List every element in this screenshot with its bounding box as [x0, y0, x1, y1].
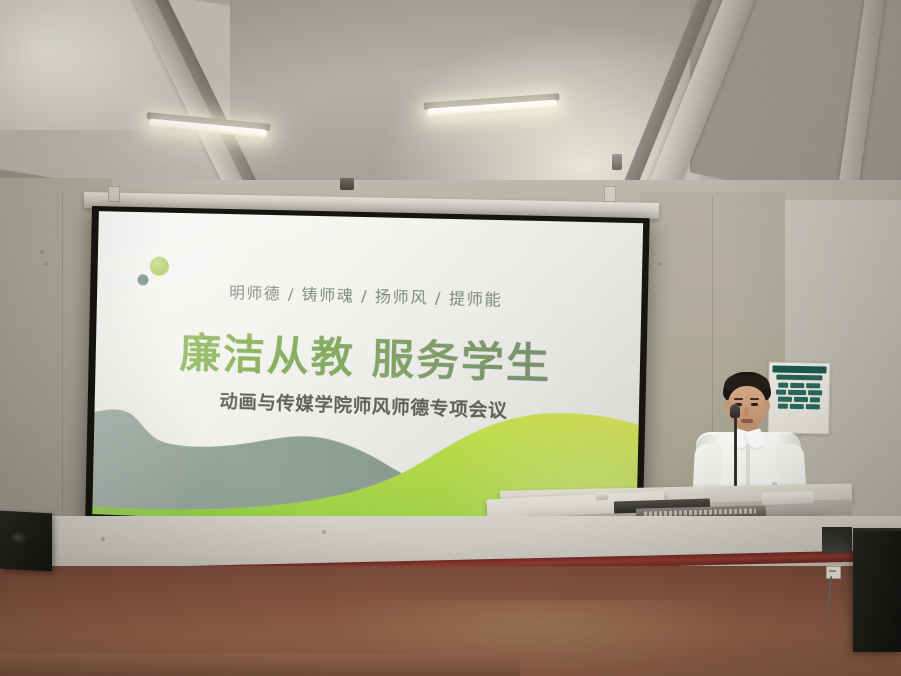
presenter-nose: [744, 407, 749, 416]
presenter-ear-right: [763, 400, 770, 412]
wall-power-outlet[interactable]: [826, 566, 841, 579]
right-loudspeaker: [853, 531, 901, 652]
projector-mount-icon: [340, 178, 354, 190]
roller-bracket: [108, 186, 120, 202]
microphone-stem: [734, 412, 737, 492]
wall-seam: [62, 192, 63, 522]
decorative-dot-large-icon: [150, 256, 170, 276]
slide-subtitle: 明师德 / 铸师魂 / 扬师风 / 提师能: [97, 277, 642, 314]
speaker-cone-icon: [8, 529, 28, 545]
wall-mark: [101, 537, 105, 541]
floor-foreground: [0, 654, 520, 676]
ceiling-fixture-icon: [612, 154, 622, 170]
presenter-mouth: [741, 419, 753, 423]
outlet-slot-icon: [829, 570, 836, 572]
wall-mark: [658, 262, 662, 266]
presenter-eyebrow-right: [750, 398, 759, 400]
roller-bracket: [604, 186, 616, 202]
wall-mark: [40, 250, 44, 254]
presenter-eyebrow-left: [734, 398, 743, 400]
slide-title: 廉洁从教 服务学生: [95, 316, 640, 394]
wall-mark: [322, 530, 326, 534]
slide-surface: 明师德 / 铸师魂 / 扬师风 / 提师能 廉洁从教 服务学生 动画与传媒学院师…: [92, 211, 643, 536]
sign-box: [810, 397, 820, 402]
wall-recess-box: [822, 527, 852, 553]
meeting-room-photo: 明师德 / 铸师魂 / 扬师风 / 提师能 廉洁从教 服务学生 动画与传媒学院师…: [0, 0, 901, 676]
paper-on-desk: [762, 491, 814, 505]
wall-mark: [44, 262, 48, 266]
presenter-eye-right: [751, 403, 758, 406]
podium-knob[interactable]: [596, 492, 608, 501]
sign-box: [808, 390, 822, 395]
